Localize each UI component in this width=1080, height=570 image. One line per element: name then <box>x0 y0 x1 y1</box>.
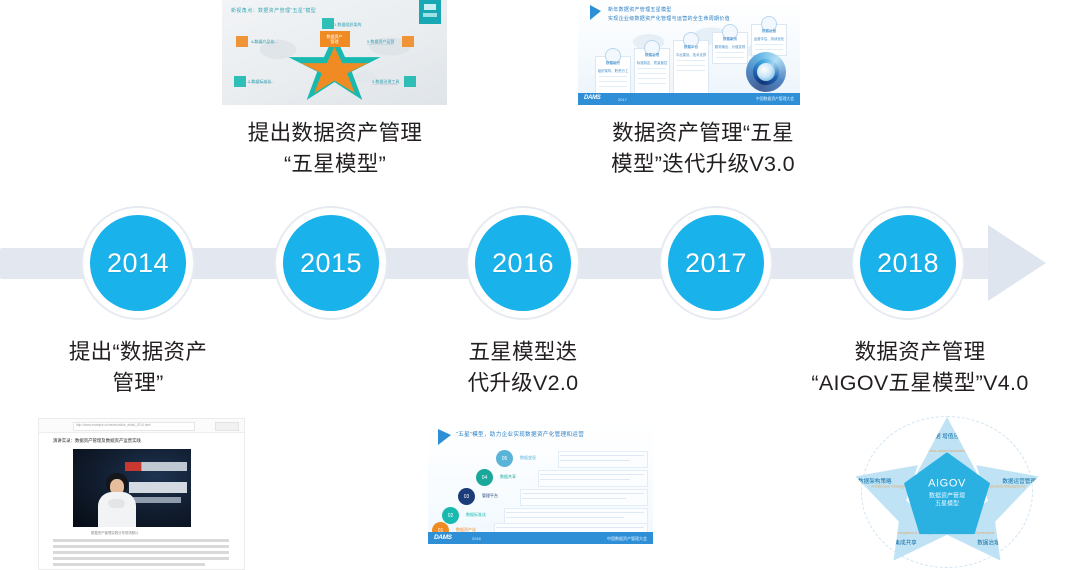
aigov-sub-line1: 数据资产管理 <box>929 494 965 500</box>
chart-up-icon <box>402 36 414 47</box>
thumbnail-2016[interactable]: “五星”模型，助力企业实现数据资产化管理和运营 05 数据变现 04 数据共享 … <box>428 422 653 544</box>
step-number: 05 <box>496 450 513 467</box>
caption-2014-line1: 提出“数据资产 <box>18 337 258 368</box>
step-name: 数据标准化 <box>466 512 486 518</box>
year-label-2016: 2016 <box>492 248 554 279</box>
ladder-step-head: 运营评估、持续优化 <box>752 36 786 41</box>
article-headline: 演讲实录：数据资产管理及数据资产运营实践 <box>53 438 141 444</box>
year-label-2017: 2017 <box>685 248 747 279</box>
dams-footer-right: 中国数据资产管理大会 <box>607 536 647 542</box>
step-row: 03 管理平台 <box>458 488 646 505</box>
article-photo <box>73 449 191 527</box>
caption-2014: 提出“数据资产 管理” <box>18 337 258 399</box>
gear-icon <box>234 76 246 87</box>
caption-2015-line2: “五星模型” <box>195 149 475 180</box>
org-icon <box>322 18 334 29</box>
search-button[interactable] <box>215 422 239 431</box>
year-label-2018: 2018 <box>877 248 939 279</box>
year-label-2014: 2014 <box>107 248 169 279</box>
star-point-label-4: 2.数据标准化 <box>248 79 271 85</box>
step-number: 03 <box>458 488 475 505</box>
aigov-title: AIGOV <box>928 478 966 490</box>
step-row: 04 数据共享 <box>476 469 646 486</box>
stage-banner-text <box>129 482 187 493</box>
arrow-right-icon <box>988 225 1046 301</box>
timeline-node-2014[interactable]: 2014 <box>90 215 186 311</box>
ladder-step: 数据组织 组织架构、职责分工 <box>595 56 631 94</box>
timeline-node-2016[interactable]: 2016 <box>475 215 571 311</box>
caption-2016-line2: 代升级V2.0 <box>418 368 628 399</box>
ladder-step-cap: 数据组织 <box>596 61 630 66</box>
spiral-logo-icon <box>746 52 786 92</box>
ladder-step-cap: 数据平台 <box>674 45 708 50</box>
ladder-step-cap: 数据治理 <box>635 53 669 58</box>
timeline-node-2015[interactable]: 2015 <box>283 215 379 311</box>
thumbnail-2017-title-line2: 实现企业级数据资产化管理与运营的全生命周期价值 <box>608 15 730 22</box>
star-center-line2: 管理 <box>331 39 339 44</box>
ladder-step-head: 组织架构、职责分工 <box>596 68 630 73</box>
ladder-step: 数据治理 标准制定、质量管控 <box>634 48 670 94</box>
thumbnail-2014[interactable]: http://www.example.cn/news/article_detai… <box>38 418 245 570</box>
ladder-step-head: 服务输出、价值变现 <box>713 44 747 49</box>
caption-2017-line2: 模型”迭代升级V3.0 <box>553 149 853 180</box>
star-center-label: 数据资产 管理 <box>320 31 350 47</box>
slide-footer: DAMS 2016 中国数据资产管理大会 <box>428 532 653 544</box>
thumbnail-2017-title-line1: 新年数据资产管理五星模型 <box>608 6 672 13</box>
ladder-step-cap: 数据运营 <box>752 29 786 34</box>
timeline-node-2018[interactable]: 2018 <box>860 215 956 311</box>
caption-2018-line1: 数据资产管理 <box>770 337 1070 368</box>
year-label-2015: 2015 <box>300 248 362 279</box>
triangle-bullet-icon <box>438 429 451 445</box>
thumbnail-2015-title: 新视角点：数据资产管理“五星”模型 <box>231 7 316 14</box>
step-name: 数据共享 <box>500 474 516 480</box>
address-bar-url: http://www.example.cn/news/article_detai… <box>76 423 191 427</box>
stage-sub-text <box>131 497 181 503</box>
ladder-step-head: 标准制定、质量管控 <box>635 60 669 65</box>
thumbnail-2015[interactable]: 新视角点：数据资产管理“五星”模型 1.数据组织架构 4.数据产品化 5.数据资… <box>222 0 447 105</box>
caption-2017: 数据资产管理“五星 模型”迭代升级V3.0 <box>553 118 853 180</box>
caption-2016: 五星模型迭 代升级V2.0 <box>418 337 628 399</box>
thumbnail-2017[interactable]: 新年数据资产管理五星模型 实现企业级数据资产化管理与运营的全生命周期价值 数据组… <box>578 0 800 105</box>
caption-2018: 数据资产管理 “AIGOV五星模型”V4.0 <box>770 337 1070 399</box>
slide-part-badge <box>419 0 441 24</box>
thumbnail-2018[interactable]: 数据 增值应用 Value-added Application 数据运营管理 O… <box>832 415 1062 568</box>
thumbnail-2016-title: “五星”模型，助力企业实现数据资产化管理和运营 <box>456 430 584 438</box>
dams-footer-right: 中国数据资产管理大会 <box>756 97 794 102</box>
ladder-step: 数据平台 平台建设、技术支撑 <box>673 40 709 94</box>
product-icon <box>236 36 248 47</box>
ladder-step: 数据服务 服务输出、价值变现 <box>712 32 748 64</box>
dams-logo: DAMS <box>434 534 452 541</box>
step-row: 05 数据变现 <box>496 450 646 467</box>
tools-icon <box>404 76 416 87</box>
timeline-node-2017[interactable]: 2017 <box>668 215 764 311</box>
caption-2015-line1: 提出数据资产管理 <box>195 118 475 149</box>
step-number: 04 <box>476 469 493 486</box>
aigov-sub-line2: 五星模型 <box>935 502 959 508</box>
stage-backdrop-logo <box>125 462 187 471</box>
star-point-label-2: 4.数据产品化 <box>251 39 274 45</box>
triangle-bullet-icon <box>590 5 601 20</box>
step-name: 管理平台 <box>482 493 498 499</box>
ladder-step: 数据运营 运营评估、持续优化 <box>751 24 787 56</box>
dams-year: 2016 <box>472 536 481 541</box>
caption-2015: 提出数据资产管理 “五星模型” <box>195 118 475 180</box>
star-point-label-1: 1.数据组织架构 <box>334 22 361 28</box>
caption-2016-line1: 五星模型迭 <box>418 337 628 368</box>
dams-year: 2017 <box>618 97 627 102</box>
caption-2014-line2: 管理” <box>18 368 258 399</box>
ladder-step-cap: 数据服务 <box>713 37 747 42</box>
timeline-infographic: 新视角点：数据资产管理“五星”模型 1.数据组织架构 4.数据产品化 5.数据资… <box>0 0 1080 568</box>
ladder-step-head: 平台建设、技术支撑 <box>674 52 708 57</box>
step-name: 数据变现 <box>520 455 536 461</box>
slide-footer: DAMS 2017 中国数据资产管理大会 <box>578 93 800 105</box>
caption-2017-line1: 数据资产管理“五星 <box>553 118 853 149</box>
dams-logo: DAMS <box>584 95 600 101</box>
speaker-figure <box>97 473 137 527</box>
caption-2018-line2: “AIGOV五星模型”V4.0 <box>770 368 1070 399</box>
photo-caption: 数据资产管理实践分享现场照片 <box>91 530 138 535</box>
